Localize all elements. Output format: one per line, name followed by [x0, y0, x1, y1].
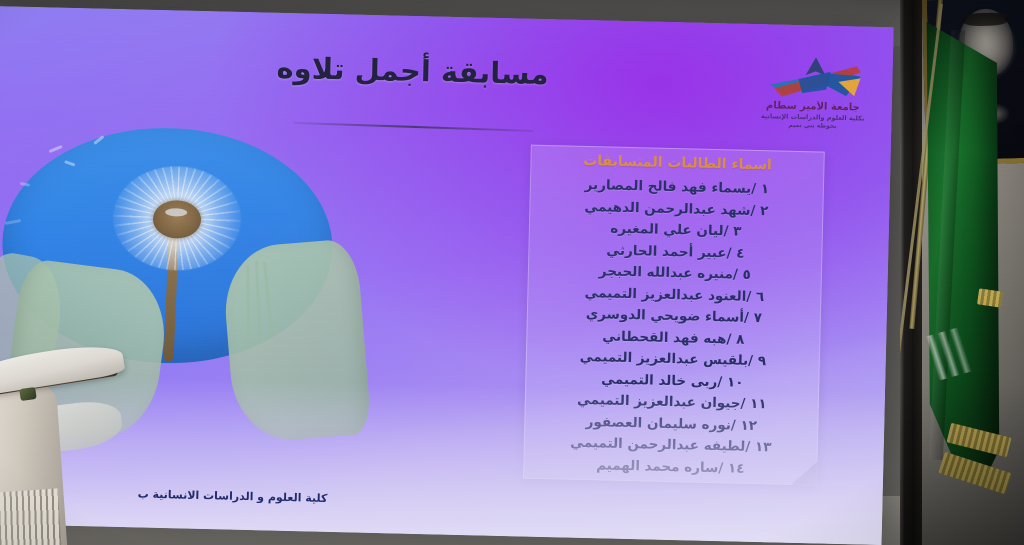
- university-logo: جامعة الأمير سطام بكلية العلوم والدراسات…: [749, 54, 877, 135]
- title-underline: [293, 122, 533, 132]
- podium-projector: [0, 352, 150, 545]
- finger-line: [255, 260, 262, 338]
- flag-fringe: [977, 288, 1003, 307]
- room-right-side: [900, 0, 1024, 545]
- seed-floater: [49, 145, 63, 153]
- star-arrow-logo-icon: [768, 54, 863, 102]
- finger-line: [246, 265, 250, 335]
- projector-lens: [19, 387, 37, 401]
- slide-title: مسابقة أجمل تلاوه: [242, 50, 583, 92]
- seed-floater: [20, 182, 30, 187]
- photo-scene: مسابقة أجمل تلاوه جامعة الأمير سطام بكلي…: [0, 0, 1024, 545]
- dandelion-core-highlight: [165, 208, 187, 217]
- finger-line: [263, 261, 273, 335]
- podium-vent-grille: [0, 488, 62, 545]
- names-panel-heading: اسماء الطالبات المتسابقات: [531, 152, 823, 175]
